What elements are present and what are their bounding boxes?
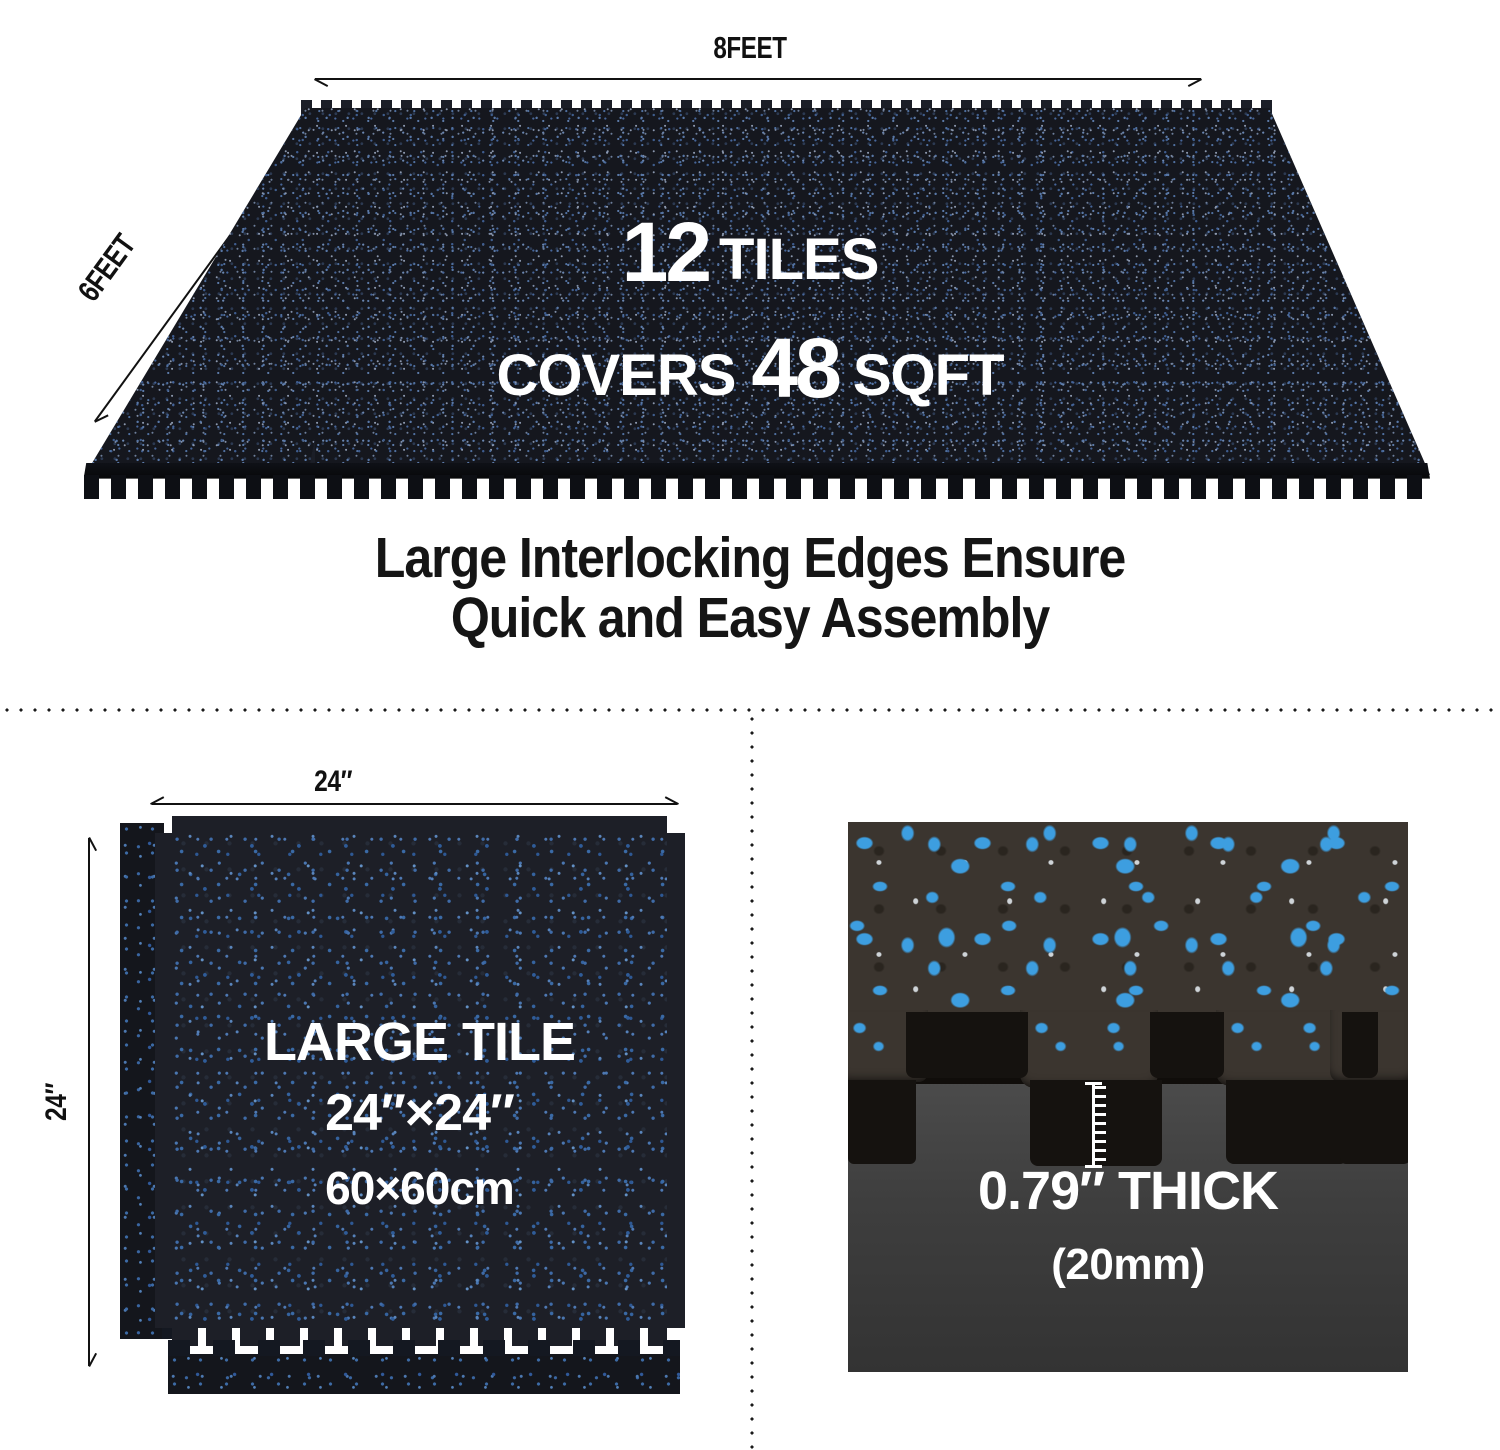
thickness-label-mm: (20mm) xyxy=(848,1240,1408,1290)
covers-unit: SQFT xyxy=(853,343,1004,408)
headline-line-1: Large Interlocking Edges Ensure xyxy=(90,528,1410,588)
tile-dimensions-inches: 24″×24″ xyxy=(172,1083,667,1143)
headline-line-2: Quick and Easy Assembly xyxy=(90,588,1410,648)
width-dimension-label-8feet: 8FEET xyxy=(165,30,1335,66)
covers-word: COVERS xyxy=(496,343,735,408)
tile-title: LARGE TILE xyxy=(172,1011,667,1073)
ruler-cap-top xyxy=(1085,1082,1102,1085)
mat-caption-tiles: 12TILES xyxy=(70,204,1430,301)
thickness-photo-panel: 0.79″ THICK (20mm) xyxy=(848,822,1408,1372)
tile-height-arrow xyxy=(88,838,90,1366)
tile-width-label: 24″ xyxy=(314,765,352,799)
mat-bottom-teeth xyxy=(84,475,1430,499)
tiles-count: 12 xyxy=(622,205,709,299)
tile-height-label: 24″ xyxy=(40,1083,74,1121)
thickness-label-inches: 0.79″ THICK xyxy=(848,1160,1408,1222)
width-dimension-arrow xyxy=(315,78,1201,80)
photo-mat-top-surface xyxy=(848,822,1408,1022)
photo-interlock-tab-2 xyxy=(1020,1010,1158,1088)
mat-caption-coverage: COVERS48SQFT xyxy=(70,320,1430,417)
photo-recess-1 xyxy=(906,1012,1028,1078)
tile-width-arrow xyxy=(152,803,677,805)
edge-strip-horizontal-teeth xyxy=(168,1340,680,1356)
tile-right-teeth xyxy=(667,833,685,1328)
infographic-stage: 8FEET 6FEET 12TILES COVERS48SQFT Large I… xyxy=(0,0,1500,1450)
thickness-ruler-gauge xyxy=(1092,1082,1095,1168)
photo-interlock-tab-3 xyxy=(1216,1010,1348,1086)
headline-block: Large Interlocking Edges Ensure Quick an… xyxy=(0,528,1500,649)
photo-recess-2 xyxy=(1150,1012,1224,1078)
ruler-ticks xyxy=(1095,1086,1106,1164)
tile-top-teeth xyxy=(172,816,667,834)
photo-thickness-block-3 xyxy=(1226,1080,1348,1164)
divider-vertical xyxy=(750,712,754,1450)
covers-value: 48 xyxy=(751,321,838,415)
photo-recess-3 xyxy=(1342,1012,1378,1078)
large-mat-illustration: 12TILES COVERS48SQFT xyxy=(70,108,1430,493)
tile-edge-strip-horizontal xyxy=(168,1354,680,1394)
photo-thickness-block-4 xyxy=(1340,1080,1408,1164)
tile-dimensions-cm: 60×60cm xyxy=(172,1161,667,1215)
photo-thickness-block-1 xyxy=(848,1080,916,1164)
tile-surface: LARGE TILE 24″×24″ 60×60cm xyxy=(172,833,667,1328)
tiles-unit: TILES xyxy=(719,227,878,292)
tile-left-teeth xyxy=(155,833,173,1328)
